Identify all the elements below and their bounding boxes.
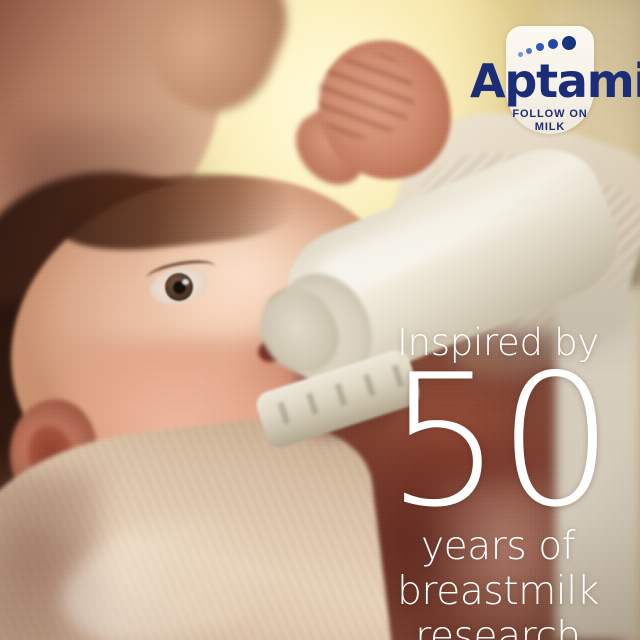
logo-dot-3 [536, 43, 544, 51]
logo-dot-5 [562, 36, 576, 50]
logo-subtitle: FOLLOW ON MILK [470, 108, 630, 134]
logo-subtitle-line2: MILK [470, 121, 630, 134]
headline-block: Inspired by 50 years of breastmilk resea… [360, 322, 636, 640]
headline-number-50: 50 [360, 366, 636, 516]
baby-eye-highlight [182, 279, 189, 285]
logo-wordmark-text: Aptamil [470, 54, 640, 108]
logo-wordmark: Aptamil. [470, 58, 630, 104]
aptamil-logo: Aptamil. FOLLOW ON MILK [470, 22, 630, 140]
logo-dot-4 [548, 39, 558, 49]
headline-line-research: research [360, 614, 636, 640]
headline-line-breastmilk: breastmilk [360, 569, 636, 614]
advertisement-image: Aptamil. FOLLOW ON MILK Inspired by 50 y… [0, 0, 640, 640]
logo-subtitle-line1: FOLLOW ON [470, 108, 630, 121]
